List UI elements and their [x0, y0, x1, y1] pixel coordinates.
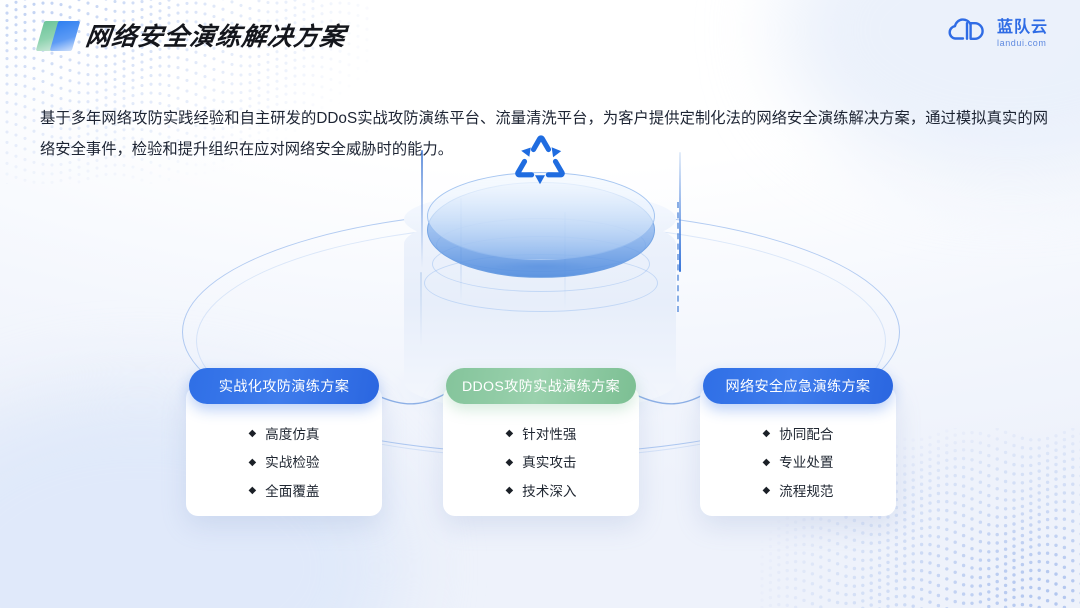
feature-label: 实战检验 — [265, 456, 319, 470]
bullet-icon: ◆ — [248, 458, 256, 468]
solution-card-01[interactable]: 实战化攻防演练方案 ◆高度仿真 ◆实战检验 ◆全面覆盖 — [186, 386, 382, 516]
feature-label: 高度仿真 — [265, 428, 319, 442]
card-title-pill-02: DDOS攻防实战演练方案 — [446, 368, 636, 404]
feature-label: 流程规范 — [779, 485, 833, 499]
bullet-icon: ◆ — [248, 486, 256, 496]
list-item: ◆技术深入 — [443, 477, 639, 506]
feature-label: 专业处置 — [779, 456, 833, 470]
page-title: 网络安全演练解决方案 — [84, 17, 348, 53]
list-item: ◆专业处置 — [700, 449, 896, 478]
card-title-pill-01: 实战化攻防演练方案 — [189, 368, 379, 404]
bullet-icon: ◆ — [505, 458, 513, 468]
bullet-icon: ◆ — [762, 429, 770, 439]
brand-name-en: landui.com — [997, 39, 1048, 48]
feature-label: 针对性强 — [522, 428, 576, 442]
list-item: ◆高度仿真 — [186, 420, 382, 449]
title-block: 网络安全演练解决方案 — [40, 17, 346, 53]
title-decoration-icon — [40, 18, 82, 52]
list-item: ◆流程规范 — [700, 477, 896, 506]
list-item: ◆实战检验 — [186, 449, 382, 478]
bullet-icon: ◆ — [505, 486, 513, 496]
card-title-pill-03: 网络安全应急演练方案 — [703, 368, 893, 404]
cloud-ld-logo-icon — [946, 16, 988, 51]
brand-name-cn: 蓝队云 — [997, 20, 1048, 36]
recycle-loop-icon — [506, 128, 574, 202]
feature-label: 技术深入 — [522, 485, 576, 499]
bullet-icon: ◆ — [762, 458, 770, 468]
feature-label: 协同配合 — [779, 428, 833, 442]
slide-canvas: 网络安全演练解决方案 蓝队云 landui.com 基于多年网络攻防实践经验和自… — [0, 0, 1080, 608]
list-item: ◆针对性强 — [443, 420, 639, 449]
list-item: ◆真实攻击 — [443, 449, 639, 478]
bullet-icon: ◆ — [248, 429, 256, 439]
slide-header: 网络安全演练解决方案 蓝队云 landui.com — [0, 0, 1080, 68]
feature-label: 真实攻击 — [522, 456, 576, 470]
brand-logo[interactable]: 蓝队云 landui.com — [946, 16, 1048, 51]
feature-label: 全面覆盖 — [265, 485, 319, 499]
bullet-icon: ◆ — [762, 486, 770, 496]
list-item: ◆全面覆盖 — [186, 477, 382, 506]
solution-card-02[interactable]: DDOS攻防实战演练方案 ◆针对性强 ◆真实攻击 ◆技术深入 — [443, 386, 639, 516]
list-item: ◆协同配合 — [700, 420, 896, 449]
brand-text: 蓝队云 landui.com — [997, 20, 1048, 48]
accent-line-1 — [421, 150, 423, 268]
solution-card-03[interactable]: 网络安全应急演练方案 ◆协同配合 ◆专业处置 ◆流程规范 — [700, 386, 896, 516]
bullet-icon: ◆ — [505, 429, 513, 439]
accent-line-4 — [679, 152, 681, 272]
accent-line-5 — [420, 272, 422, 346]
